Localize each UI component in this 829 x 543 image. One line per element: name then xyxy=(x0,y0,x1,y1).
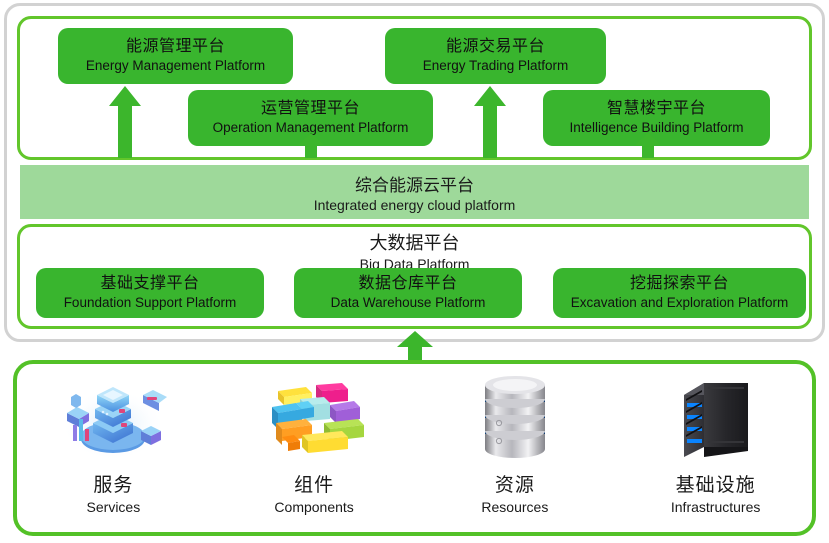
cell-label-en: Components xyxy=(274,499,353,515)
cell-label-cn: 资源 xyxy=(495,470,535,497)
cell-label-en: Services xyxy=(87,499,141,515)
box-label-cn: 基础支撑平台 xyxy=(100,275,199,294)
box-energy-management-platform[interactable]: 能源管理平台 Energy Management Platform xyxy=(58,28,293,84)
box-label-cn: 运营管理平台 xyxy=(261,100,360,119)
arrow-up-glyph xyxy=(396,331,434,361)
infrastructure-tier-row: 服务 Services xyxy=(13,360,816,536)
box-excavation-exploration-platform[interactable]: 挖掘探索平台 Excavation and Exploration Platfo… xyxy=(553,268,806,318)
infrastructure-cell-resources[interactable]: 资源 Resources xyxy=(415,360,616,536)
arrow-up-icon xyxy=(297,133,325,158)
box-energy-trading-platform[interactable]: 能源交易平台 Energy Trading Platform xyxy=(385,28,606,84)
box-data-warehouse-platform[interactable]: 数据仓库平台 Data Warehouse Platform xyxy=(294,268,522,318)
bigdata-heading-cn: 大数据平台 xyxy=(0,229,829,255)
box-label-en: Foundation Support Platform xyxy=(64,295,237,311)
database-stack-icon xyxy=(460,372,570,464)
colored-blocks-icon xyxy=(259,372,369,464)
infrastructure-cell-components[interactable]: 组件 Components xyxy=(214,360,415,536)
cell-label-cn: 组件 xyxy=(294,470,334,497)
band-label-en: Integrated energy cloud platform xyxy=(314,197,516,213)
cell-label-en: Infrastructures xyxy=(671,499,760,515)
cell-label-cn: 基础设施 xyxy=(676,470,756,497)
integrated-energy-cloud-platform-band: 综合能源云平台 Integrated energy cloud platform xyxy=(20,165,809,219)
arrow-up-icon xyxy=(396,331,434,361)
box-label-en: Data Warehouse Platform xyxy=(331,295,486,311)
infrastructure-cell-services[interactable]: 服务 Services xyxy=(13,360,214,536)
infrastructure-cell-infrastructures[interactable]: 基础设施 Infrastructures xyxy=(615,360,816,536)
server-tower-icon xyxy=(661,372,771,464)
arrow-up-icon xyxy=(108,86,142,158)
box-label-en: Excavation and Exploration Platform xyxy=(571,295,789,311)
box-label-en: Energy Management Platform xyxy=(86,58,265,74)
arrow-up-icon xyxy=(634,133,662,158)
box-label-cn: 能源交易平台 xyxy=(446,38,545,57)
box-label-en: Energy Trading Platform xyxy=(423,58,569,74)
box-label-cn: 挖掘探索平台 xyxy=(630,275,729,294)
arrow-up-glyph xyxy=(634,133,662,158)
isometric-cloud-server-icon xyxy=(58,372,168,464)
box-label-cn: 能源管理平台 xyxy=(126,38,225,57)
arrow-up-glyph xyxy=(473,86,507,158)
box-foundation-support-platform[interactable]: 基础支撑平台 Foundation Support Platform xyxy=(36,268,264,318)
bigdata-tier-heading: 大数据平台 Big Data Platform xyxy=(0,229,829,272)
architecture-diagram: 能源管理平台 Energy Management Platform 能源交易平台… xyxy=(0,0,829,543)
arrow-up-glyph xyxy=(297,133,325,158)
cell-label-cn: 服务 xyxy=(93,470,133,497)
band-label-cn: 综合能源云平台 xyxy=(355,171,474,196)
cell-label-en: Resources xyxy=(481,499,548,515)
box-label-cn: 数据仓库平台 xyxy=(358,275,457,294)
arrow-up-icon xyxy=(473,86,507,158)
box-label-cn: 智慧楼宇平台 xyxy=(607,100,706,119)
arrow-up-glyph xyxy=(108,86,142,158)
